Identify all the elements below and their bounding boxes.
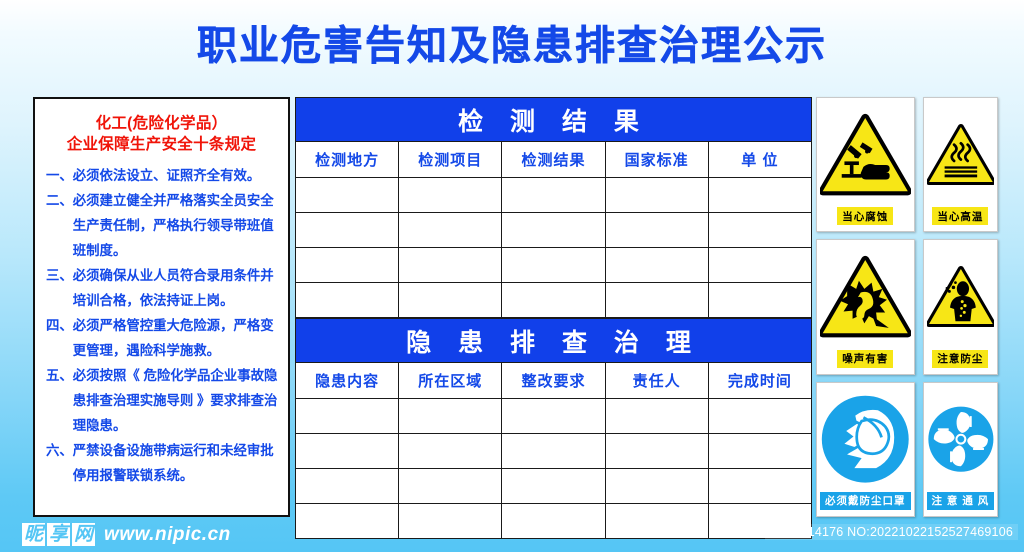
- table-cell[interactable]: [399, 213, 502, 248]
- id-stamp: ID:33814176 NO:20221022152527469106: [765, 524, 1018, 540]
- table-column-header: 整改要求: [502, 363, 605, 399]
- rule-number: 五、: [46, 363, 73, 438]
- safety-sign: 当心高温: [923, 97, 999, 232]
- table-cell[interactable]: [502, 434, 605, 469]
- table-header-row: 检测地方检测项目检测结果国家标准单 位: [296, 142, 812, 178]
- safety-sign: 当心腐蚀: [816, 97, 915, 232]
- table-cell[interactable]: [502, 178, 605, 213]
- table-band-title: 隐 患 排 查 治 理: [296, 319, 812, 363]
- table-row[interactable]: [296, 283, 812, 318]
- table-cell[interactable]: [605, 283, 708, 318]
- data-table: 隐 患 排 查 治 理隐患内容所在区域整改要求责任人完成时间: [295, 318, 812, 539]
- table-cell[interactable]: [708, 213, 811, 248]
- table-column-header: 检测地方: [296, 142, 399, 178]
- table-column-header: 完成时间: [708, 363, 811, 399]
- table-column-header: 单 位: [708, 142, 811, 178]
- rule-item: 四、必须严格管控重大危险源，严格变更管理，遇险科学施救。: [44, 313, 279, 363]
- table-cell[interactable]: [502, 504, 605, 539]
- table-row[interactable]: [296, 469, 812, 504]
- table-column-header: 隐患内容: [296, 363, 399, 399]
- board-frame: 化工(危险化学品） 企业保障生产安全十条规定 一、必须依法设立、证照齐全有效。二…: [33, 97, 990, 517]
- safety-sign: 注意防尘: [923, 239, 999, 374]
- table-row[interactable]: [296, 248, 812, 283]
- wear-dust-mask-icon: [820, 388, 911, 490]
- table-cell[interactable]: [296, 469, 399, 504]
- site-logo-char: 昵: [22, 523, 45, 546]
- table-cell[interactable]: [296, 399, 399, 434]
- safety-sign: 注 意 通 风: [923, 382, 999, 517]
- site-logo-char: 享: [47, 523, 70, 546]
- table-cell[interactable]: [605, 248, 708, 283]
- dust-hazard-icon: [927, 245, 995, 347]
- table-cell[interactable]: [502, 469, 605, 504]
- site-logo-char: 网: [72, 523, 95, 546]
- ventilation-icon: [927, 388, 995, 490]
- table-column-header: 检测项目: [399, 142, 502, 178]
- table-row[interactable]: [296, 504, 812, 539]
- table-cell[interactable]: [502, 248, 605, 283]
- table-cell[interactable]: [605, 434, 708, 469]
- table-cell[interactable]: [708, 399, 811, 434]
- table-row[interactable]: [296, 178, 812, 213]
- table-column-header: 所在区域: [399, 363, 502, 399]
- table-cell[interactable]: [502, 213, 605, 248]
- rule-number: 四、: [46, 313, 73, 363]
- table-cell[interactable]: [296, 248, 399, 283]
- safety-sign-caption: 注意防尘: [932, 350, 988, 368]
- table-cell[interactable]: [605, 469, 708, 504]
- table-cell[interactable]: [296, 434, 399, 469]
- table-cell[interactable]: [296, 213, 399, 248]
- table-cell[interactable]: [605, 399, 708, 434]
- safety-sign-caption: 必须戴防尘口罩: [820, 492, 911, 510]
- table-row[interactable]: [296, 399, 812, 434]
- table-cell[interactable]: [605, 178, 708, 213]
- table-band-title-row: 隐 患 排 查 治 理: [296, 319, 812, 363]
- table-cell[interactable]: [399, 469, 502, 504]
- watermark: 昵享网 www.nipic.cn: [22, 523, 231, 546]
- table-cell[interactable]: [708, 178, 811, 213]
- rule-number: 二、: [46, 188, 73, 263]
- rule-item: 一、必须依法设立、证照齐全有效。: [44, 163, 279, 188]
- table-cell[interactable]: [502, 399, 605, 434]
- safety-sign: 噪声有害: [816, 239, 915, 374]
- table-cell[interactable]: [296, 504, 399, 539]
- table-cell[interactable]: [399, 248, 502, 283]
- safety-sign-caption: 注 意 通 风: [927, 492, 995, 510]
- rules-panel: 化工(危险化学品） 企业保障生产安全十条规定 一、必须依法设立、证照齐全有效。二…: [33, 97, 290, 517]
- table-header-row: 隐患内容所在区域整改要求责任人完成时间: [296, 363, 812, 399]
- table-cell[interactable]: [399, 178, 502, 213]
- noise-hazard-icon: [820, 245, 911, 347]
- rule-item: 六、严禁设备设施带病运行和未经审批停用报警联锁系统。: [44, 438, 279, 488]
- rule-number: 三、: [46, 263, 73, 313]
- rule-item: 三、必须确保从业人员符合录用条件并培训合格，依法持证上岗。: [44, 263, 279, 313]
- rules-panel-heading: 化工(危险化学品） 企业保障生产安全十条规定: [44, 113, 279, 155]
- safety-sign-caption: 当心腐蚀: [837, 207, 893, 225]
- table-cell[interactable]: [708, 434, 811, 469]
- table-row[interactable]: [296, 213, 812, 248]
- safety-sign: 必须戴防尘口罩: [816, 382, 915, 517]
- safety-sign-caption: 噪声有害: [837, 350, 893, 368]
- rule-number: 六、: [46, 438, 73, 488]
- table-cell[interactable]: [399, 399, 502, 434]
- site-url: www.nipic.cn: [104, 524, 231, 546]
- table-column-header: 国家标准: [605, 142, 708, 178]
- data-table: 检 测 结 果检测地方检测项目检测结果国家标准单 位: [295, 97, 812, 318]
- rules-heading-line2: 企业保障生产安全十条规定: [44, 134, 279, 155]
- rule-text: 严禁设备设施带病运行和未经审批停用报警联锁系统。: [73, 438, 279, 488]
- tables-area: 检 测 结 果检测地方检测项目检测结果国家标准单 位隐 患 排 查 治 理隐患内…: [295, 97, 812, 517]
- rules-list: 一、必须依法设立、证照齐全有效。二、必须建立健全并严格落实全员安全生产责任制，严…: [44, 163, 279, 488]
- rule-text: 必须依法设立、证照齐全有效。: [73, 163, 279, 188]
- rule-text: 必须按照《 危险化学品企业事故隐患排查治理实施导则 》要求排查治理隐患。: [73, 363, 279, 438]
- site-logo: 昵享网: [22, 523, 95, 546]
- table-cell[interactable]: [605, 504, 708, 539]
- rule-text: 必须确保从业人员符合录用条件并培训合格，依法持证上岗。: [73, 263, 279, 313]
- table-cell[interactable]: [296, 283, 399, 318]
- table-cell[interactable]: [708, 283, 811, 318]
- table-cell[interactable]: [399, 434, 502, 469]
- rule-text: 必须建立健全并严格落实全员安全生产责任制，严格执行领导带班值班制度。: [73, 188, 279, 263]
- safety-sign-caption: 当心高温: [932, 207, 988, 225]
- table-cell[interactable]: [296, 178, 399, 213]
- table-band-title-row: 检 测 结 果: [296, 98, 812, 142]
- table-cell[interactable]: [708, 248, 811, 283]
- rule-item: 五、必须按照《 危险化学品企业事故隐患排查治理实施导则 》要求排查治理隐患。: [44, 363, 279, 438]
- table-cell[interactable]: [605, 213, 708, 248]
- table-cell[interactable]: [502, 283, 605, 318]
- rules-heading-line1: 化工(危险化学品）: [44, 113, 279, 134]
- corrosive-icon: [820, 103, 911, 205]
- table-column-header: 检测结果: [502, 142, 605, 178]
- table-cell[interactable]: [399, 504, 502, 539]
- page-title: 职业危害告知及隐患排查治理公示: [0, 22, 1024, 70]
- safety-signs-grid: 当心腐蚀当心高温噪声有害注意防尘必须戴防尘口罩注 意 通 风: [816, 97, 990, 517]
- table-cell[interactable]: [399, 283, 502, 318]
- rule-item: 二、必须建立健全并严格落实全员安全生产责任制，严格执行领导带班值班制度。: [44, 188, 279, 263]
- table-band-title: 检 测 结 果: [296, 98, 812, 142]
- table-row[interactable]: [296, 434, 812, 469]
- safety-signs-panel: 当心腐蚀当心高温噪声有害注意防尘必须戴防尘口罩注 意 通 风: [816, 97, 990, 517]
- table-column-header: 责任人: [605, 363, 708, 399]
- table-cell[interactable]: [708, 469, 811, 504]
- rule-number: 一、: [46, 163, 73, 188]
- hot-surface-icon: [927, 103, 995, 205]
- rule-text: 必须严格管控重大危险源，严格变更管理，遇险科学施救。: [73, 313, 279, 363]
